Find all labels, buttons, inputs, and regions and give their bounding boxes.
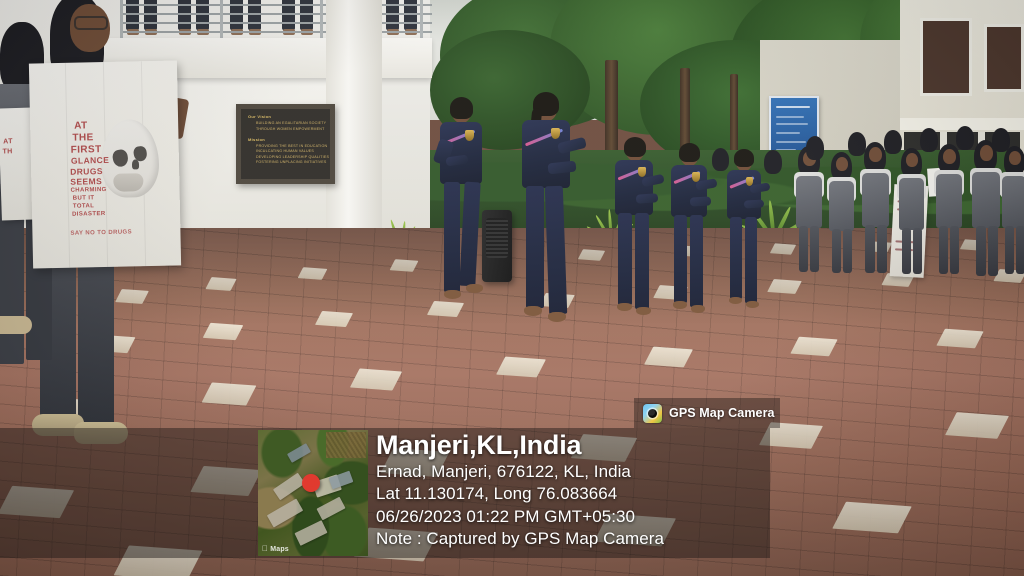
poster-line: CHARMING (70, 187, 106, 194)
photo-screenshot: Our Vision BUILDING AN EGALITARIAN SOCIE… (0, 0, 1024, 576)
vision-mission-plaque: Our Vision BUILDING AN EGALITARIAN SOCIE… (236, 104, 335, 184)
crowd-head (712, 148, 729, 171)
map-watermark:  Maps (262, 545, 289, 553)
plaque-mission-heading: Mission (248, 137, 325, 142)
poster-signature: SAY NO TO DRUGS (70, 229, 132, 236)
plaque-vision-line: BUILDING AN EGALITARIAN SOCIETY (256, 121, 325, 125)
apple-glyph:  (262, 545, 268, 553)
map-thumbnail:  Maps (258, 430, 368, 556)
crowd-head (956, 126, 974, 150)
gps-text-block: Manjeri,KL,India Ernad, Manjeri, 676122,… (376, 432, 768, 551)
camera-lens-icon (643, 404, 662, 423)
sandal (0, 316, 32, 334)
poster-line: THE (72, 132, 93, 143)
plaque-mission-line: DEVELOPING LEADERSHIP QUALITIES (256, 155, 325, 159)
crowd-head (992, 128, 1010, 152)
crowd-head (884, 130, 902, 154)
plaque-vision-line: THROUGH WOMEN EMPOWERMENT (256, 127, 325, 131)
map-watermark-label: Maps (270, 546, 289, 553)
crowd-head (920, 128, 938, 152)
poster-line: AT (74, 120, 88, 131)
plaque-mission-line: PROVIDING THE BEST IN EDUCATION (256, 144, 325, 148)
poster-line: DRUGS (70, 166, 103, 177)
crowd-head (806, 136, 824, 160)
crowd-head (764, 150, 782, 174)
gps-map-camera-brand-label: GPS Map Camera (669, 406, 775, 420)
plaque-mission-line: FOSTERING UNPLACING INITIATIVES (256, 160, 325, 164)
gps-map-camera-logo-bar: GPS Map Camera (634, 398, 780, 428)
poster-line: BUT IT (73, 195, 95, 201)
gps-address-line: Ernad, Manjeri, 676122, KL, India (376, 461, 768, 484)
balcony-railing-icon (120, 0, 432, 42)
poster-line: GLANCE (71, 155, 109, 166)
poster-line: SEEMS (70, 176, 102, 187)
poster-line: FIRST (71, 144, 102, 156)
plaque-mission-line: INCULCATING HUMAN VALUES (256, 149, 325, 153)
eyeglasses-icon (74, 16, 108, 30)
plaque-vision-heading: Our Vision (248, 114, 325, 119)
gps-city-line: Manjeri,KL,India (376, 432, 768, 460)
pa-speaker-icon (482, 210, 512, 282)
poster-line: DISASTER (72, 211, 106, 218)
poster-line: TOTAL (73, 203, 95, 209)
gps-coordinates-line: Lat 11.130174, Long 76.083664 (376, 483, 768, 506)
gps-note-line: Note : Captured by GPS Map Camera (376, 528, 768, 551)
gps-datetime-line: 06/26/2023 01:22 PM GMT+05:30 (376, 506, 768, 529)
awareness-poster-main: AT THE FIRST GLANCE DRUGS SEEMS CHARMING… (29, 60, 181, 268)
crowd-head (848, 132, 866, 156)
